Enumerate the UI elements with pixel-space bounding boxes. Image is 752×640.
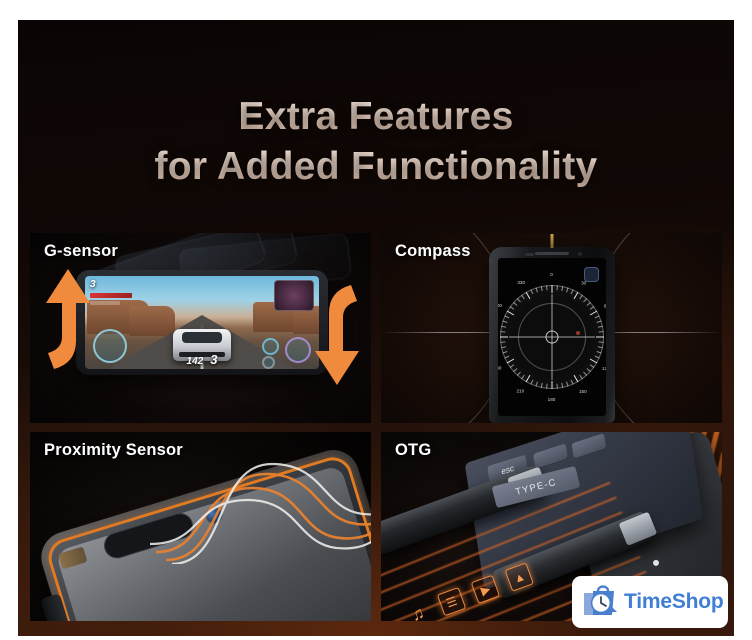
game-control-icon	[262, 338, 279, 355]
page-root: Extra Features for Added Functionality G…	[0, 0, 752, 640]
title-line-1: Extra Features	[18, 92, 734, 142]
minimap-icon	[274, 280, 314, 311]
feature-panel-g-sensor[interactable]: G-sensor 3	[30, 233, 371, 423]
panel-label-otg: OTG	[395, 441, 431, 460]
hud-speedometer: 142 3	[187, 352, 218, 367]
panel-label-proximity-sensor: Proximity Sensor	[44, 441, 183, 460]
compass-phone-image: 0306090120150180210240270300330	[489, 247, 615, 423]
keyboard-key-blank	[571, 433, 606, 460]
antenna-icon	[550, 234, 553, 248]
shopping-bag-clock-icon	[581, 582, 619, 623]
page-title: Extra Features for Added Functionality	[18, 92, 734, 192]
compass-app-screen: 0306090120150180210240270300330	[498, 258, 606, 416]
title-line-2: for Added Functionality	[18, 142, 734, 192]
compass-dial: 0306090120150180210240270300330	[500, 285, 604, 389]
feature-grid: G-sensor 3	[30, 233, 722, 621]
game-control-icon	[93, 329, 127, 363]
earpiece-speaker	[535, 252, 569, 255]
hud-progress-bar	[90, 293, 132, 298]
phone-indicator-dot	[652, 559, 659, 566]
rotate-arrow-down-icon	[311, 275, 363, 392]
gaming-phone-image: 3 142 3	[76, 270, 328, 375]
panel-label-g-sensor: G-sensor	[44, 242, 118, 261]
racing-game-screen: 3 142 3	[85, 276, 319, 369]
compass-degree-label: 270	[498, 337, 552, 338]
panel-label-compass: Compass	[395, 242, 471, 261]
game-control-icon	[285, 337, 311, 363]
timeshop-brand-text: TimeShop	[624, 590, 724, 614]
front-camera-icon	[578, 252, 582, 256]
compass-red-marker	[576, 331, 580, 335]
rotate-arrow-up-icon	[42, 267, 94, 384]
compass-degree-label: 90	[552, 337, 606, 338]
hud-gear-value: 3	[210, 352, 217, 367]
keyboard-key-blank	[533, 443, 568, 470]
compass-degree-label: 0	[551, 279, 552, 337]
sensor-slot	[525, 253, 534, 256]
timeshop-watermark[interactable]: TimeShop	[572, 576, 728, 628]
game-control-icon	[262, 356, 275, 369]
hud-speed-value: 142	[187, 356, 204, 367]
hud-secondary-bar	[90, 301, 120, 305]
feature-panel-compass[interactable]: Compass 0	[381, 233, 722, 423]
promo-banner: Extra Features for Added Functionality G…	[18, 20, 734, 636]
compass-degree-label: 180	[551, 337, 552, 395]
feature-panel-proximity-sensor[interactable]: Proximity Sensor	[30, 432, 371, 622]
